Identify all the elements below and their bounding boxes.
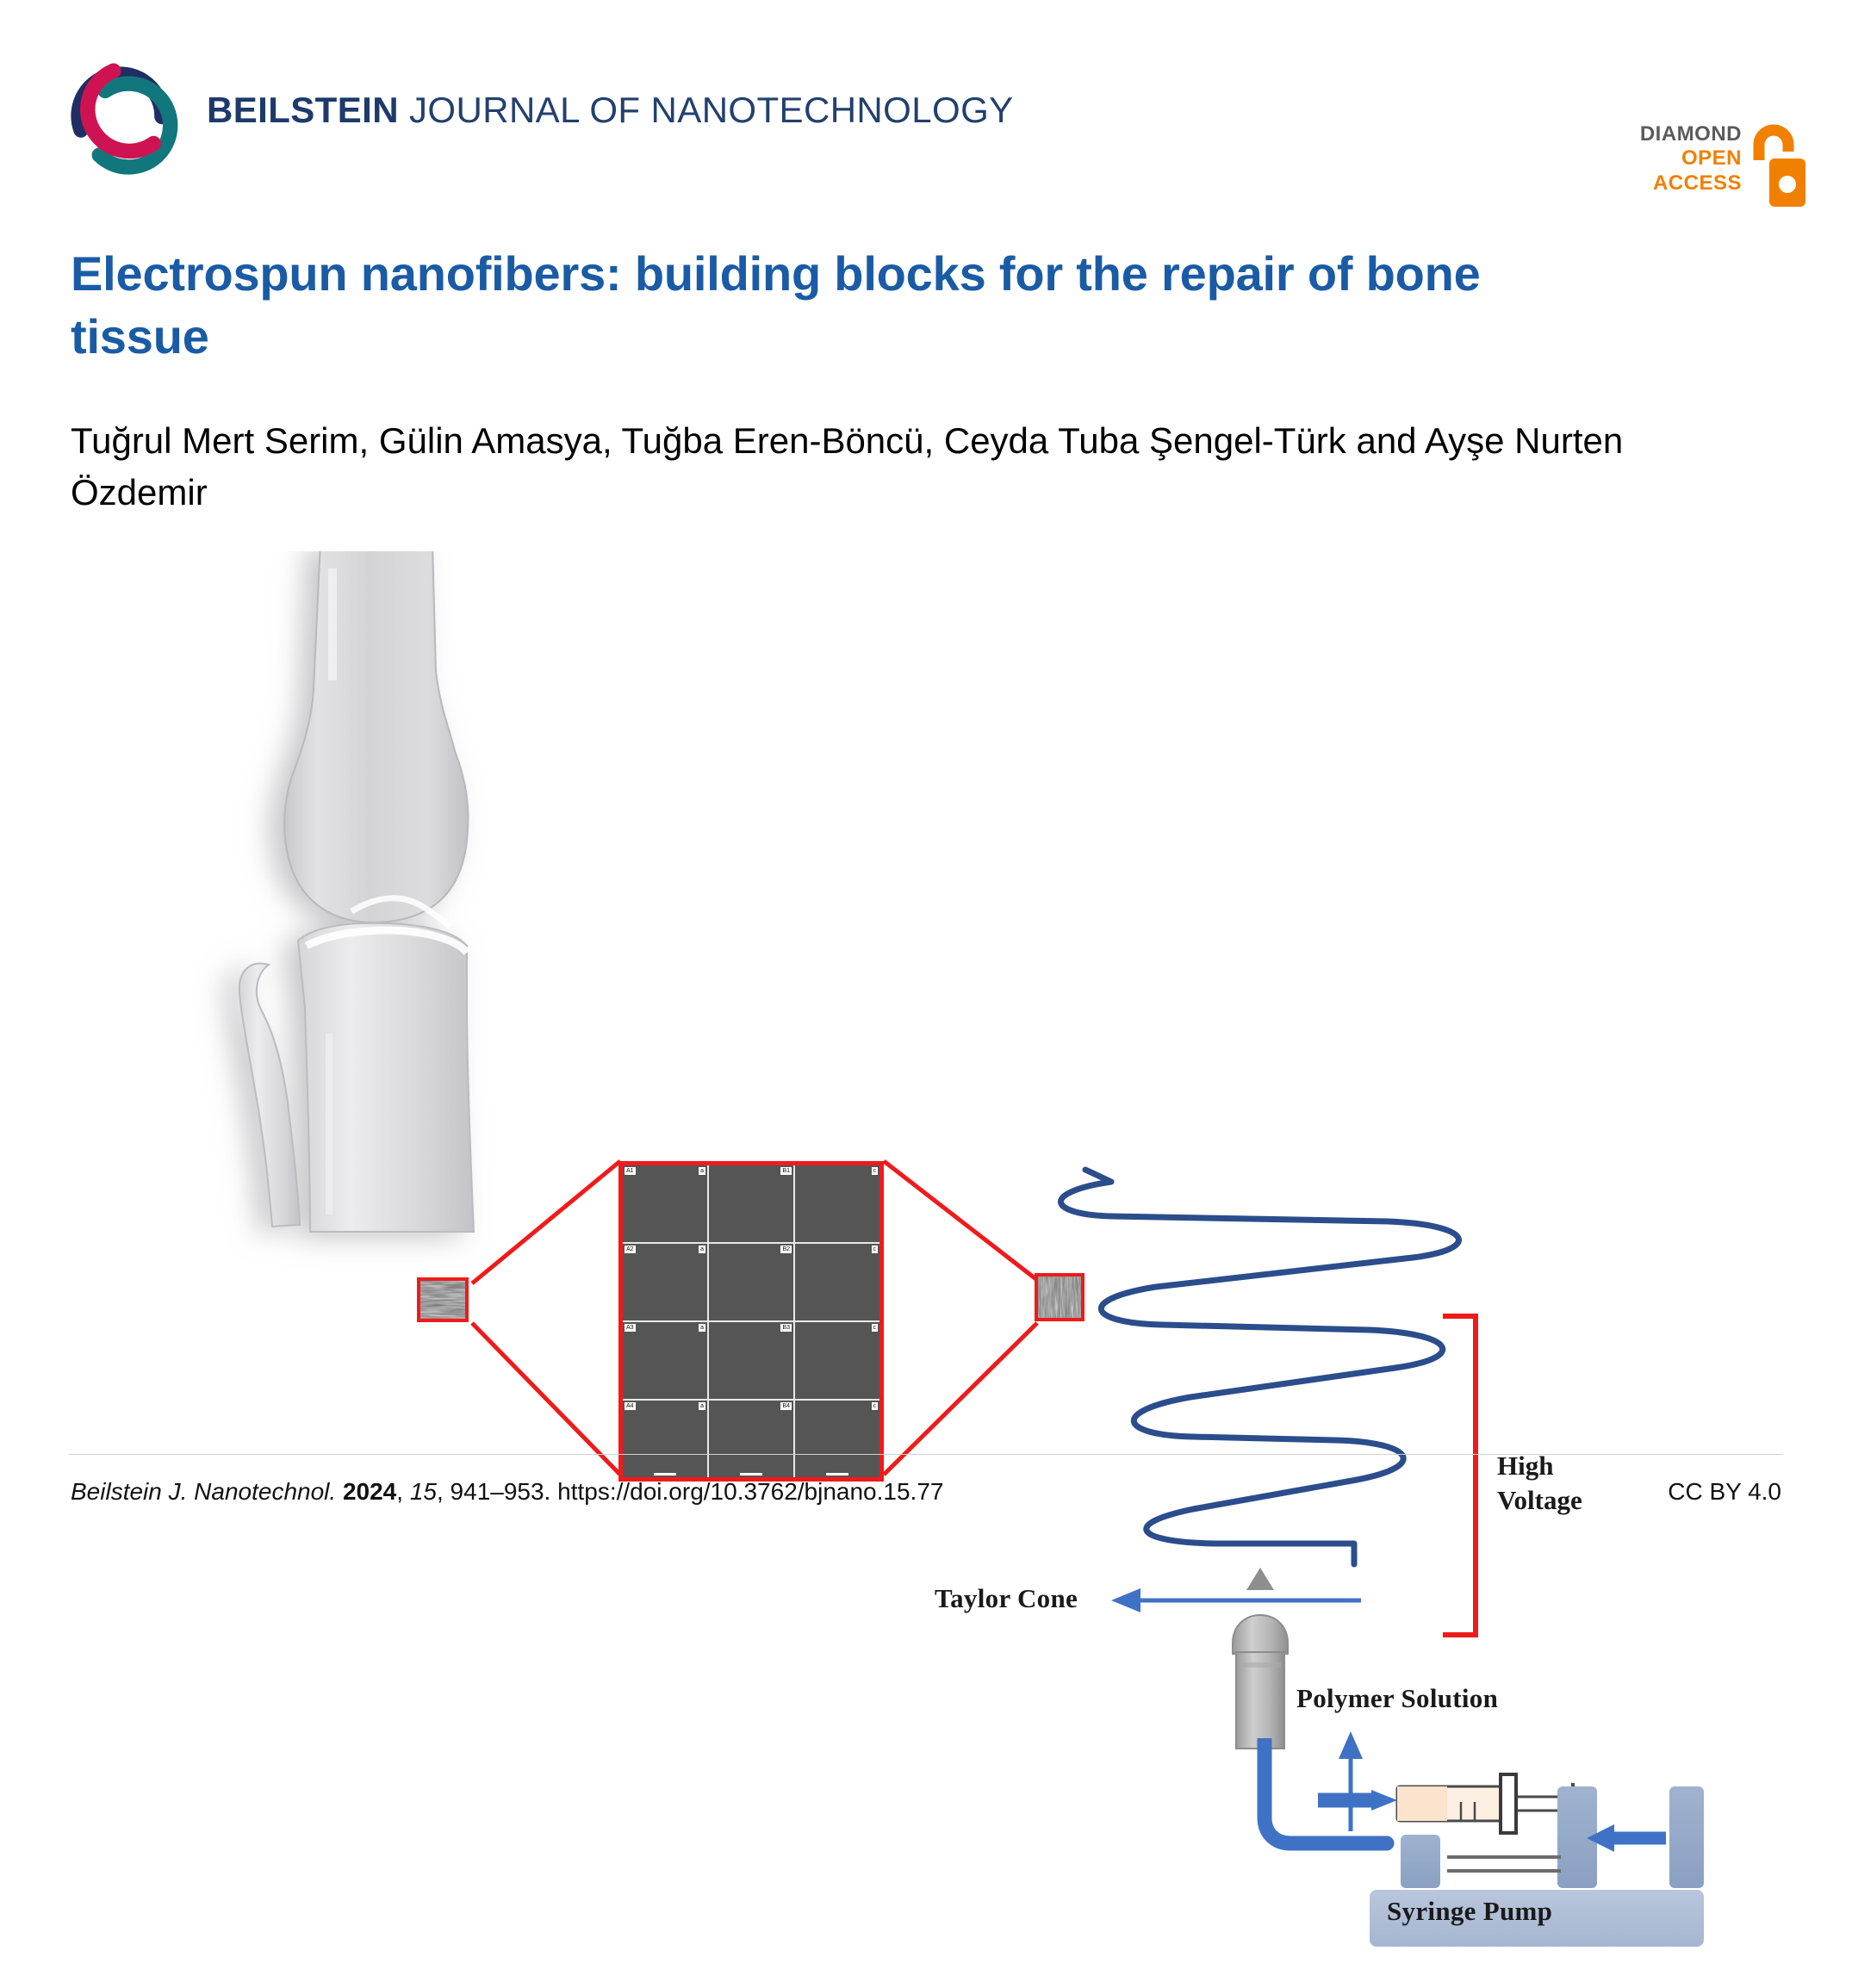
sem-panel: A2a	[623, 1244, 707, 1320]
sem-panel-tag: A2	[625, 1246, 636, 1253]
sem-panel: c	[795, 1401, 879, 1477]
sem-panel-tag: a	[699, 1167, 705, 1175]
sem-panel-tag: c	[872, 1167, 879, 1175]
sem-panel: A4a	[623, 1401, 707, 1477]
citation-volume: 15	[410, 1478, 437, 1505]
article-authors: Tuğrul Mert Serim, Gülin Amasya, Tuğba E…	[71, 415, 1638, 518]
citation-pages: 941–953.	[451, 1478, 551, 1505]
journal-title: BEILSTEIN JOURNAL OF NANOTECHNOLOGY	[207, 90, 1014, 131]
sem-panel-tag: B3	[780, 1324, 792, 1332]
sem-panel-tag: c	[872, 1402, 879, 1410]
sem-scale-bar	[740, 1473, 762, 1475]
open-access-text: DIAMOND OPEN ACCESS	[1640, 122, 1742, 196]
sem-panel: c	[795, 1322, 879, 1399]
sem-panel-tag: c	[872, 1324, 879, 1332]
sem-panel-tag: a	[699, 1402, 705, 1410]
sem-micrograph-mosaic: A1a B1 c A2a B2 c A3a B3 c A4a B4 c	[618, 1161, 884, 1482]
sem-scale-bar	[654, 1473, 676, 1475]
sem-panel-tag: A4	[625, 1402, 636, 1410]
article-title: Electrospun nanofibers: building blocks …	[71, 243, 1621, 369]
beilstein-triple-arc-logo	[53, 50, 187, 183]
sem-panel-tag: B1	[780, 1167, 792, 1175]
footer-divider	[69, 1454, 1783, 1455]
open-access-badge: DIAMOND OPEN ACCESS	[1619, 60, 1818, 155]
journal-name-bold: BEILSTEIN	[207, 90, 399, 130]
high-voltage-label: High Voltage	[1497, 1449, 1582, 1517]
taylor-cone-label: Taylor Cone	[935, 1583, 1078, 1614]
sem-panel: c	[795, 1244, 879, 1320]
sem-scale-bar	[826, 1473, 848, 1475]
sem-panel-tag: a	[699, 1324, 705, 1332]
graphical-abstract-figure: A1a B1 c A2a B2 c A3a B3 c A4a B4 c	[0, 551, 1852, 1421]
sem-panel: A3a	[623, 1322, 707, 1399]
taylor-cone-arrow	[1103, 1578, 1378, 1630]
citation-doi[interactable]: https://doi.org/10.3762/bjnano.15.77	[557, 1478, 943, 1505]
oa-line-access: ACCESS	[1640, 171, 1742, 196]
sem-panel-grid: A1a B1 c A2a B2 c A3a B3 c A4a B4 c	[623, 1165, 879, 1477]
sem-panel: c	[795, 1165, 879, 1242]
sem-panel: A1a	[623, 1165, 707, 1242]
sem-panel-tag: B2	[780, 1246, 792, 1253]
sem-panel: B4	[709, 1401, 793, 1477]
journal-abbrev: Beilstein J. Nanotechnol.	[71, 1478, 336, 1505]
open-lock-icon	[1747, 121, 1807, 215]
sem-panel-tag: c	[872, 1246, 879, 1253]
syringe-pump	[1318, 1764, 1714, 1988]
sem-panel: B3	[709, 1322, 793, 1399]
high-voltage-line2: Voltage	[1497, 1483, 1582, 1518]
article-cover-page: BEILSTEIN JOURNAL OF NANOTECHNOLOGY DIAM…	[0, 0, 1852, 1591]
sem-panel-tag: a	[699, 1246, 705, 1253]
polymer-solution-label: Polymer Solution	[1296, 1683, 1498, 1714]
polymer-solution-arrow	[1325, 1724, 1377, 1836]
syringe-pump-label: Syringe Pump	[1387, 1896, 1552, 1927]
page-header: BEILSTEIN JOURNAL OF NANOTECHNOLOGY DIAM…	[0, 0, 1852, 172]
citation-line: Beilstein J. Nanotechnol. 2024, 15, 941–…	[71, 1478, 943, 1506]
bone-callout-chip	[417, 1277, 469, 1322]
sem-panel-tag: A3	[625, 1324, 636, 1332]
sem-panel: B1	[709, 1165, 793, 1242]
license-label: CC BY 4.0	[1668, 1478, 1781, 1506]
citation-year: 2024	[343, 1478, 396, 1505]
sem-panel-tag: A1	[625, 1167, 636, 1175]
sem-panel-tag: B4	[780, 1402, 792, 1410]
sem-panel: B2	[709, 1244, 793, 1320]
oa-line-open: OPEN	[1640, 146, 1742, 171]
journal-name-light: JOURNAL OF NANOTECHNOLOGY	[399, 90, 1014, 130]
oa-line-diamond: DIAMOND	[1640, 122, 1742, 146]
